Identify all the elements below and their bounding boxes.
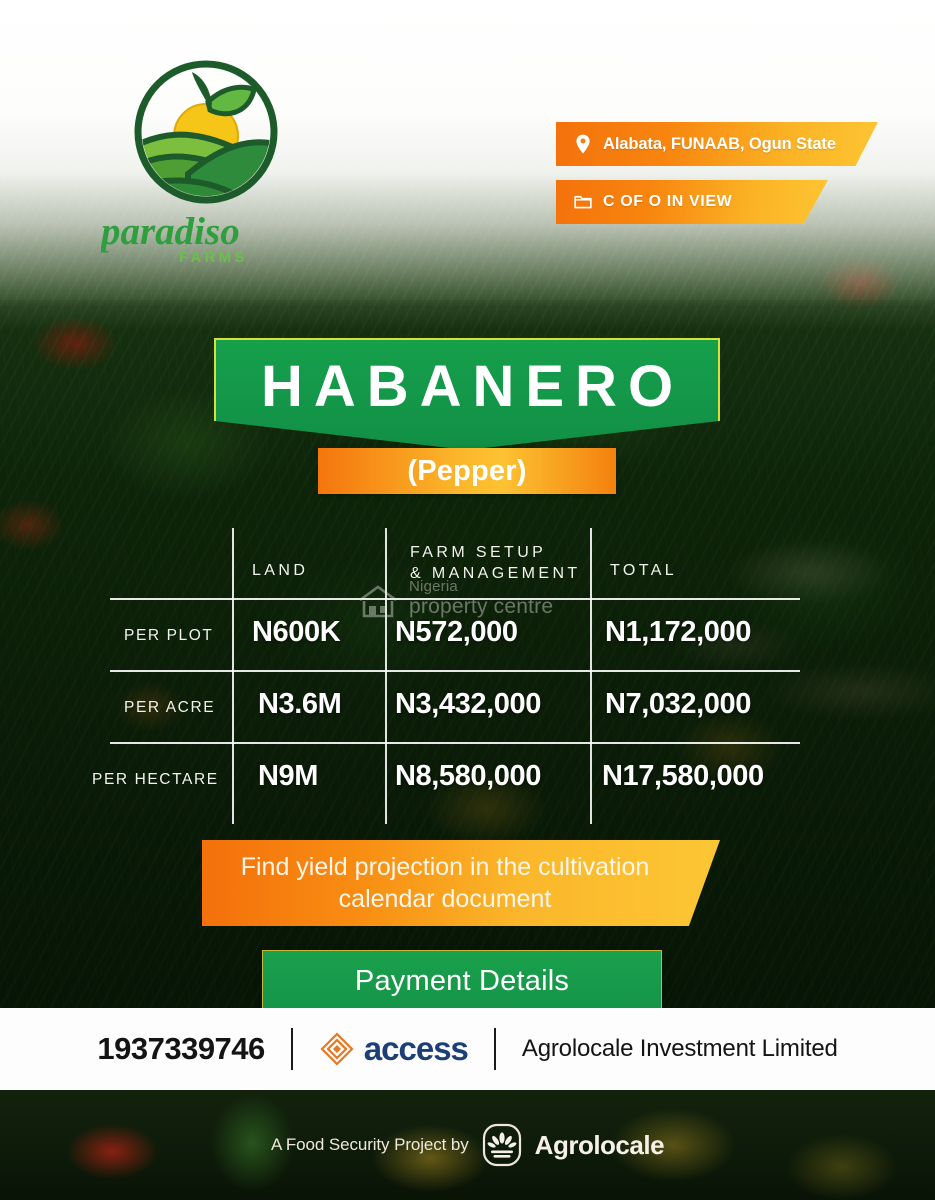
crop-subtitle: (Pepper): [407, 455, 526, 488]
payment-info-bar: 1937339746 access Agrolocale Investment …: [0, 1008, 935, 1090]
location-badge-label: Alabata, FUNAAB, Ogun State: [603, 135, 836, 154]
cell-plot-land: N600K: [252, 616, 340, 649]
table-hline-3: [110, 742, 800, 744]
table-vline-1: [232, 528, 234, 824]
callout-line1: Find yield projection in the cultivation: [241, 853, 650, 881]
account-number: 1937339746: [97, 1031, 264, 1067]
table-vline-2: [385, 528, 387, 824]
svg-text:FARMS: FARMS: [179, 249, 248, 266]
payment-details-banner: Payment Details: [262, 950, 662, 1012]
folder-icon: [574, 192, 592, 212]
access-bank-logo: access: [319, 1030, 468, 1068]
crop-subtitle-banner: (Pepper): [318, 448, 616, 494]
table-hline-1: [110, 598, 800, 600]
cell-hectare-setup: N8,580,000: [395, 760, 541, 793]
company-name: Agrolocale Investment Limited: [522, 1035, 838, 1063]
crop-title: HABANERO: [250, 358, 684, 416]
row-label-per-hectare: PER HECTARE: [92, 771, 219, 789]
cell-acre-total: N7,032,000: [605, 688, 751, 721]
callout-text: Find yield projection in the cultivation…: [241, 851, 650, 915]
cofo-badge-label: C OF O IN VIEW: [603, 193, 732, 211]
cofo-badge[interactable]: C OF O IN VIEW: [556, 180, 828, 224]
cell-acre-setup: N3,432,000: [395, 688, 541, 721]
cell-hectare-total: N17,580,000: [602, 760, 764, 793]
cell-acre-land: N3.6M: [258, 688, 341, 721]
header: paradiso FARMS Alabata, FUNAAB, Ogun Sta…: [0, 0, 935, 300]
cell-plot-total: N1,172,000: [605, 616, 751, 649]
column-header-setup-line1: FARM SETUP: [410, 542, 546, 564]
table-vline-3: [590, 528, 592, 824]
bar-divider-2: [494, 1028, 496, 1070]
paradiso-wordmark: paradiso FARMS: [101, 210, 311, 266]
bank-name: access: [364, 1030, 468, 1068]
footer: A Food Security Project by Agrolocale: [0, 1090, 935, 1200]
access-bank-diamond-icon: [319, 1031, 355, 1067]
farm-sunrise-field-logo-icon: [130, 56, 282, 208]
column-header-land: LAND: [252, 560, 308, 582]
callout-line2: calendar document: [339, 885, 552, 913]
paradiso-farms-logo: paradiso FARMS: [96, 56, 316, 266]
cell-plot-setup: N572,000: [395, 616, 518, 649]
footer-text: A Food Security Project by: [271, 1135, 469, 1155]
agrolocale-leaf-badge-icon: [482, 1123, 522, 1167]
column-header-total: TOTAL: [610, 560, 677, 582]
cell-hectare-land: N9M: [258, 760, 318, 793]
location-badge[interactable]: Alabata, FUNAAB, Ogun State: [556, 122, 878, 166]
column-header-setup-line2: & MANAGEMENT: [410, 563, 581, 585]
yield-projection-callout: Find yield projection in the cultivation…: [202, 840, 720, 926]
payment-details-label: Payment Details: [355, 965, 569, 998]
location-pin-icon: [574, 134, 592, 154]
pricing-table: LAND FARM SETUP & MANAGEMENT TOTAL PER P…: [110, 528, 810, 824]
bar-divider-1: [291, 1028, 293, 1070]
row-label-per-acre: PER ACRE: [124, 699, 215, 717]
table-hline-2: [110, 670, 800, 672]
footer-brand: Agrolocale: [535, 1130, 664, 1161]
row-label-per-plot: PER PLOT: [124, 627, 213, 645]
svg-text:paradiso: paradiso: [101, 210, 240, 253]
